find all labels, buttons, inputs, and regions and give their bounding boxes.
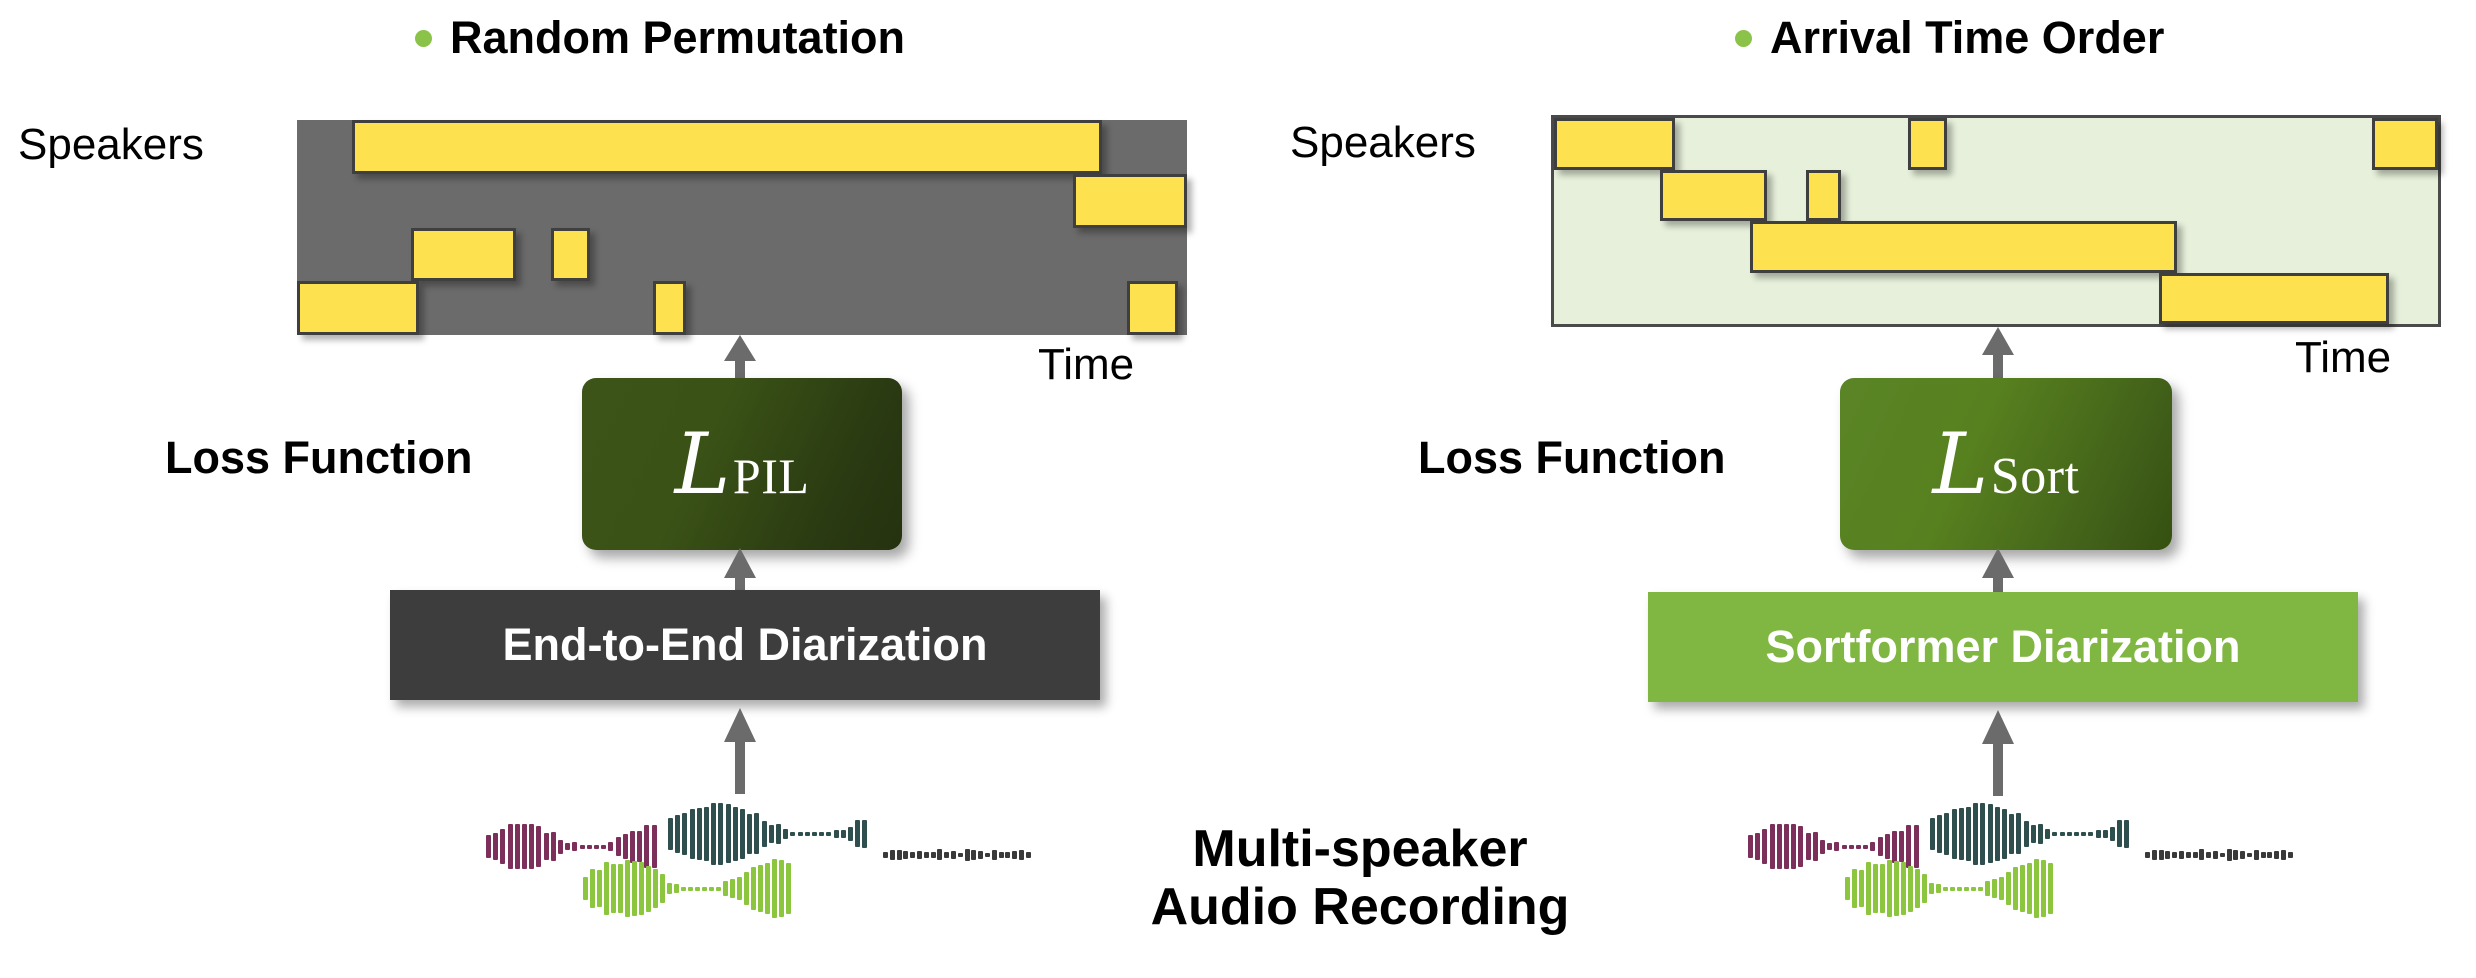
waveform-bar	[2179, 851, 2184, 859]
waveform-bar	[587, 845, 592, 849]
waveform-bar	[2145, 852, 2150, 858]
waveform-bar	[2013, 867, 2018, 910]
caption-line-1: Multi-speaker	[1110, 820, 1610, 878]
waveform-bar	[1966, 807, 1971, 861]
waveform-bar	[834, 830, 839, 837]
waveform-bar	[2034, 859, 2039, 918]
waveform-bar	[1906, 825, 1911, 867]
waveform-bar	[1978, 887, 1983, 891]
waveform-bar	[529, 824, 534, 869]
waveform-bar	[618, 864, 623, 913]
waveform-bar	[2193, 852, 2198, 858]
right-loss-formula: LSort	[1933, 415, 2080, 513]
waveform-bar	[1885, 834, 1890, 859]
left-loss-box: LPIL	[582, 378, 902, 550]
right-title-text: Arrival Time Order	[1770, 12, 2164, 64]
waveform-bar	[1863, 845, 1868, 849]
waveform-bar	[630, 831, 635, 863]
right-title-bullet-icon	[1735, 30, 1752, 47]
waveform-bar	[744, 872, 749, 906]
waveform-bar	[2117, 820, 2122, 847]
waveform-bar	[702, 887, 707, 891]
speaker-segment	[1908, 118, 1947, 170]
waveform-bar	[2006, 872, 2011, 906]
waveform-bar	[597, 870, 602, 906]
speaker-segment	[1750, 221, 2177, 273]
waveform-bar	[1827, 843, 1832, 850]
waveform-bar	[1748, 835, 1753, 857]
waveform-bar	[611, 864, 616, 912]
audio-caption: Multi-speaker Audio Recording	[1110, 820, 1610, 936]
waveform-bar	[522, 824, 527, 868]
waveform-bar	[2052, 832, 2057, 836]
waveform-bar	[1770, 824, 1775, 869]
waveform-bar	[1952, 809, 1957, 860]
waveform-bar	[2103, 830, 2108, 838]
left-loss-formula: LPIL	[675, 415, 810, 513]
waveform-bar	[1820, 840, 1825, 854]
waveform-bar	[2220, 853, 2225, 857]
waveform-bar	[1784, 824, 1789, 868]
waveform-bar	[747, 814, 752, 854]
waveform-bar	[1929, 883, 1934, 895]
waveform-bar	[493, 833, 498, 860]
waveform-bar	[1798, 826, 1803, 868]
left-title-text: Random Permutation	[450, 12, 905, 64]
waveform-bar	[558, 840, 563, 854]
right-model-box: Sortformer Diarization	[1648, 592, 2358, 702]
waveform-bar	[999, 852, 1004, 858]
waveform-bar	[667, 883, 672, 895]
waveform-bar	[769, 825, 774, 843]
waveform-bar	[2124, 820, 2129, 848]
waveform-bar	[2027, 863, 2032, 913]
waveform-bar	[572, 842, 577, 851]
waveform-bar	[486, 835, 491, 857]
waveform-bar	[644, 825, 649, 867]
waveform-bar	[805, 832, 810, 836]
waveform-bar	[992, 850, 997, 861]
waveform-bar	[2024, 821, 2029, 848]
waveform-bar	[1012, 851, 1017, 858]
waveform-bar	[2016, 813, 2021, 854]
waveform-bar	[668, 818, 673, 849]
waveform-bar	[1005, 852, 1010, 857]
waveform-bar	[1813, 832, 1818, 861]
waveform-bar	[2274, 851, 2279, 858]
waveform-bar	[1914, 825, 1919, 869]
waveform-bar	[536, 826, 541, 868]
waveform-bar	[2288, 852, 2293, 859]
waveform-bar	[508, 824, 513, 869]
caption-line-2: Audio Recording	[1110, 878, 1610, 936]
right-loss-box: LSort	[1840, 378, 2172, 550]
waveform-bar	[1845, 877, 1850, 899]
waveform-bar	[500, 829, 505, 865]
waveform-bar	[790, 832, 795, 836]
waveform-bar	[601, 845, 606, 849]
waveform-bar	[1892, 831, 1897, 863]
waveform-bar	[779, 860, 784, 916]
waveform-bar	[2267, 852, 2272, 857]
waveform-bar	[1878, 837, 1883, 856]
waveform-bar	[660, 874, 665, 903]
waveform-bar	[978, 851, 983, 858]
left-arrow-audio-to-model	[722, 708, 758, 794]
speaker-segment	[2372, 118, 2438, 170]
waveform-bar	[1922, 874, 1927, 903]
waveform-bar	[733, 807, 738, 861]
waveform-bar	[965, 849, 970, 860]
waveform-bar	[1971, 887, 1976, 891]
waveform-bar	[783, 829, 788, 839]
left-loss-subscript: PIL	[733, 447, 810, 505]
waveform-bar	[1936, 884, 1941, 892]
waveform-bar	[2074, 832, 2079, 836]
right-arrow-audio-to-model	[1980, 710, 2016, 796]
left-model-box: End-to-End Diarization	[390, 590, 1100, 700]
waveform-bar	[751, 867, 756, 910]
waveform-bar	[944, 852, 949, 858]
right-time-label: Time	[2295, 333, 2391, 383]
waveform-bar	[1842, 845, 1847, 849]
waveform-bar	[2206, 852, 2211, 858]
waveform-bar	[583, 877, 588, 899]
waveform-bar	[1915, 869, 1920, 908]
speaker-segment	[1660, 170, 1767, 222]
diagram-canvas: Random Permutation Speakers Time Loss Fu…	[0, 0, 2476, 978]
waveform-bar	[2247, 853, 2252, 858]
waveform-bar	[1964, 887, 1969, 891]
waveform-bar	[695, 887, 700, 891]
waveform-bar	[798, 832, 803, 836]
waveform-bar	[623, 834, 628, 859]
speaker-segment	[1127, 281, 1178, 335]
speaker-segment	[653, 281, 686, 335]
speaker-segment	[1554, 118, 1675, 170]
waveform-bar	[608, 842, 613, 852]
waveform-bar	[737, 877, 742, 899]
waveform-bar	[1894, 861, 1899, 917]
waveform-bar	[2172, 852, 2177, 859]
waveform-bar	[718, 803, 723, 864]
waveform-bar	[544, 833, 549, 860]
waveform-bar	[897, 850, 902, 860]
waveform-bar	[2096, 830, 2101, 837]
waveform-bar	[625, 860, 630, 918]
waveform-bar	[2088, 832, 2093, 836]
waveform-bar	[2038, 824, 2043, 843]
waveform-bar	[855, 820, 860, 847]
waveform-bar	[1777, 824, 1782, 869]
speaker-segment	[551, 228, 590, 282]
waveform-bar	[730, 879, 735, 898]
waveform-bar	[653, 869, 658, 908]
waveform-bar	[1908, 866, 1913, 912]
left-title-bullet-icon	[415, 30, 432, 47]
waveform-bar	[637, 831, 642, 863]
waveform-bar	[890, 850, 895, 860]
waveform-bar	[711, 803, 716, 865]
waveform-bar	[1985, 881, 1990, 896]
speaker-segment	[1073, 174, 1187, 228]
waveform-bar	[1980, 803, 1985, 864]
waveform-bar	[2031, 825, 2036, 843]
waveform-bar	[951, 851, 956, 860]
waveform-bar	[580, 845, 585, 849]
waveform-bar	[819, 832, 824, 836]
waveform-bar	[2240, 851, 2245, 858]
waveform-bar	[2199, 849, 2204, 860]
waveform-bar	[565, 843, 570, 850]
waveform-bar	[1870, 842, 1875, 852]
waveform-bar	[2060, 832, 2065, 836]
left-speakers-label: Speakers	[18, 120, 204, 170]
waveform-bar	[1880, 864, 1885, 913]
waveform-bar	[551, 832, 556, 861]
waveform-bar	[716, 887, 721, 891]
waveform-bar	[594, 845, 599, 849]
waveform-bar	[639, 862, 644, 915]
waveform-bar	[1791, 824, 1796, 869]
waveform-bar	[2186, 852, 2191, 858]
waveform-bar	[883, 852, 888, 858]
left-diarization-grid	[297, 120, 1187, 335]
waveform-bar	[1755, 833, 1760, 860]
waveform-bar	[786, 863, 791, 914]
waveform-bar	[1019, 850, 1024, 860]
waveform-bar	[2110, 827, 2115, 841]
waveform-bar	[758, 865, 763, 912]
waveform-bar	[646, 866, 651, 912]
waveform-bar	[765, 863, 770, 913]
speaker-segment	[352, 120, 1102, 174]
waveform-bar	[604, 862, 609, 914]
waveform-bar	[848, 827, 853, 841]
waveform-bar	[674, 884, 679, 892]
waveform-bar	[2048, 863, 2053, 914]
speaker-segment	[1806, 170, 1841, 222]
waveform-bar	[688, 887, 693, 891]
waveform-bar	[697, 808, 702, 860]
waveform-bar	[2009, 814, 2014, 854]
waveform-bar	[1995, 807, 2000, 861]
waveform-bar	[740, 809, 745, 860]
waveform-bar	[2227, 849, 2232, 860]
waveform-bar	[985, 853, 990, 858]
waveform-bar	[1806, 833, 1811, 860]
waveform-bar	[2081, 832, 2086, 836]
waveform-bar	[690, 809, 695, 860]
waveform-bar	[958, 853, 963, 857]
waveform-bar	[772, 859, 777, 918]
waveform-bar	[2045, 829, 2050, 839]
waveform-bar	[2281, 850, 2286, 860]
right-loss-symbol: L	[1933, 415, 1991, 513]
waveform-bar	[1901, 862, 1906, 915]
waveform-bar	[1930, 818, 1935, 849]
right-loss-function-label: Loss Function	[1418, 432, 1726, 484]
right-speakers-label: Speakers	[1290, 118, 1476, 168]
waveform-bar	[1973, 803, 1978, 865]
waveform-bar	[937, 849, 942, 860]
waveform-bar	[1957, 887, 1962, 891]
waveform-bar	[1026, 852, 1031, 859]
waveform-bar	[924, 852, 929, 858]
waveform-bar	[903, 851, 908, 858]
waveform-bar	[971, 850, 976, 860]
waveform-bar	[590, 869, 595, 908]
waveform-bar	[1866, 862, 1871, 914]
waveform-bar	[2254, 850, 2259, 861]
waveform-bar	[1992, 879, 1997, 898]
waveform-bar	[704, 807, 709, 861]
right-panel-title: Arrival Time Order	[1735, 12, 2164, 64]
waveform-bar	[910, 852, 915, 859]
waveform-bar	[1937, 815, 1942, 852]
right-loss-subscript: Sort	[1991, 447, 2080, 506]
left-loss-symbol: L	[675, 415, 733, 513]
waveform-bar	[2002, 809, 2007, 860]
waveform-bar	[1950, 887, 1955, 891]
waveform-bar	[682, 813, 687, 855]
waveform-bar	[2233, 850, 2238, 860]
waveform-bar	[2165, 851, 2170, 858]
left-panel-title: Random Permutation	[415, 12, 905, 64]
waveform-bar	[2020, 865, 2025, 912]
waveform-bar	[1944, 813, 1949, 855]
waveform-bar	[1959, 808, 1964, 860]
waveform-bar	[515, 824, 520, 869]
waveform-bar	[675, 815, 680, 852]
waveform-bar	[776, 824, 781, 843]
waveform-bar	[2213, 851, 2218, 860]
waveform-bar	[709, 887, 714, 891]
waveform-bar	[1849, 845, 1854, 849]
waveform-bar	[1852, 869, 1857, 908]
waveform-bar	[726, 804, 731, 863]
right-diarization-grid	[1551, 115, 2441, 327]
speaker-segment	[297, 281, 419, 335]
waveform-bar	[812, 832, 817, 836]
waveform-bar	[616, 837, 621, 856]
waveform-bar	[1834, 842, 1839, 851]
waveform-bar	[632, 861, 637, 917]
waveform-bar	[1859, 870, 1864, 906]
waveform-bar	[681, 887, 686, 891]
waveform-bar	[1899, 831, 1904, 863]
waveform-bar	[1762, 829, 1767, 865]
waveform-bar	[1943, 887, 1948, 891]
right-waveform	[1740, 815, 2300, 920]
waveform-bar	[1873, 864, 1878, 912]
speaker-segment	[2159, 273, 2390, 325]
waveform-bar	[826, 832, 831, 836]
left-loss-function-label: Loss Function	[165, 432, 473, 484]
waveform-bar	[2159, 850, 2164, 860]
waveform-bar	[841, 830, 846, 838]
speaker-segment	[411, 228, 516, 282]
waveform-bar	[762, 821, 767, 848]
waveform-bar	[2152, 850, 2157, 860]
waveform-bar	[862, 820, 867, 848]
waveform-bar	[1988, 804, 1993, 863]
waveform-bar	[1887, 860, 1892, 918]
left-time-label: Time	[1038, 340, 1134, 390]
left-waveform	[478, 815, 1038, 920]
waveform-bar	[754, 813, 759, 854]
waveform-bar	[1999, 877, 2004, 899]
waveform-bar	[652, 825, 657, 869]
waveform-bar	[723, 881, 728, 896]
waveform-bar	[2067, 832, 2072, 836]
waveform-bar	[2261, 852, 2266, 858]
waveform-bar	[2041, 860, 2046, 916]
waveform-bar	[917, 851, 922, 859]
waveform-bar	[1856, 845, 1861, 849]
waveform-bar	[931, 852, 936, 858]
